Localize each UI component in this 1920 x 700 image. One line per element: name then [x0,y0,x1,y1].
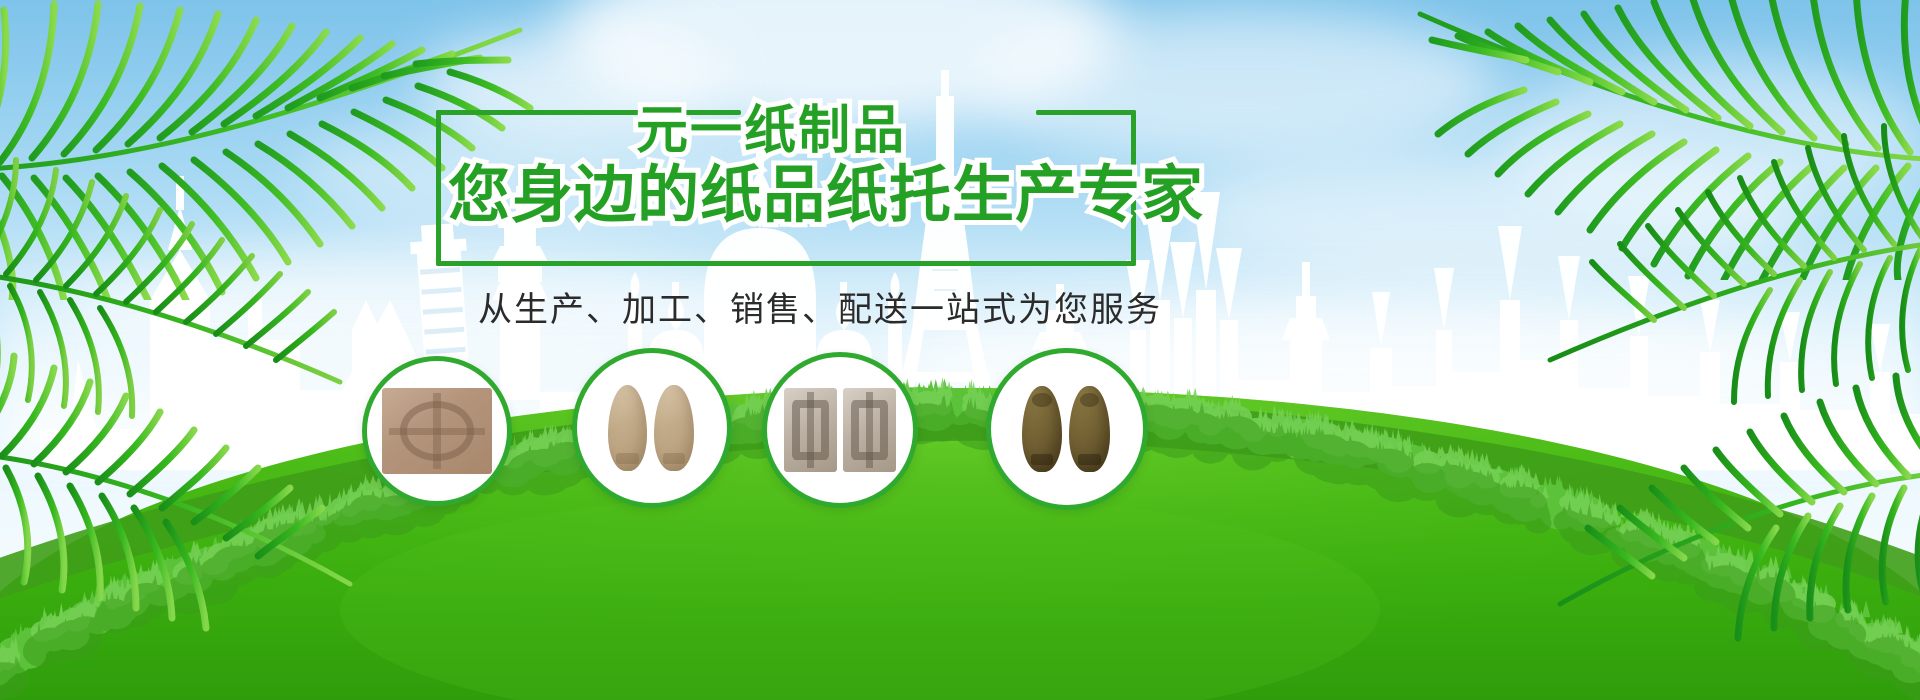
paper-pulp-insole-dark-icon [1008,382,1127,476]
promo-banner: 元一纸制品 您身边的纸品纸托生产专家 从生产、加工、销售、配送一站式为您服务 [0,0,1920,700]
paper-pulp-tray-icon [382,388,491,475]
page-title: 您身边的纸品纸托生产专家 [448,144,1204,234]
paper-pulp-packaging-pair-icon [783,385,897,476]
frame-border-bottom [436,261,1136,266]
product-thumbnail-3[interactable] [762,352,918,508]
frame-border-top-right [1036,110,1136,115]
headline-block: 元一纸制品 您身边的纸品纸托生产专家 [436,96,1136,224]
paper-pulp-insole-light-icon [594,382,711,475]
frame-border-left [436,110,441,266]
palm-frond [0,340,360,640]
product-thumbnail-2[interactable] [572,348,732,508]
subtitle: 从生产、加工、销售、配送一站式为您服务 [478,282,1162,331]
palm-frond [1550,360,1920,660]
product-thumbnail-1[interactable] [362,356,512,506]
product-thumbnail-4[interactable] [986,348,1148,510]
